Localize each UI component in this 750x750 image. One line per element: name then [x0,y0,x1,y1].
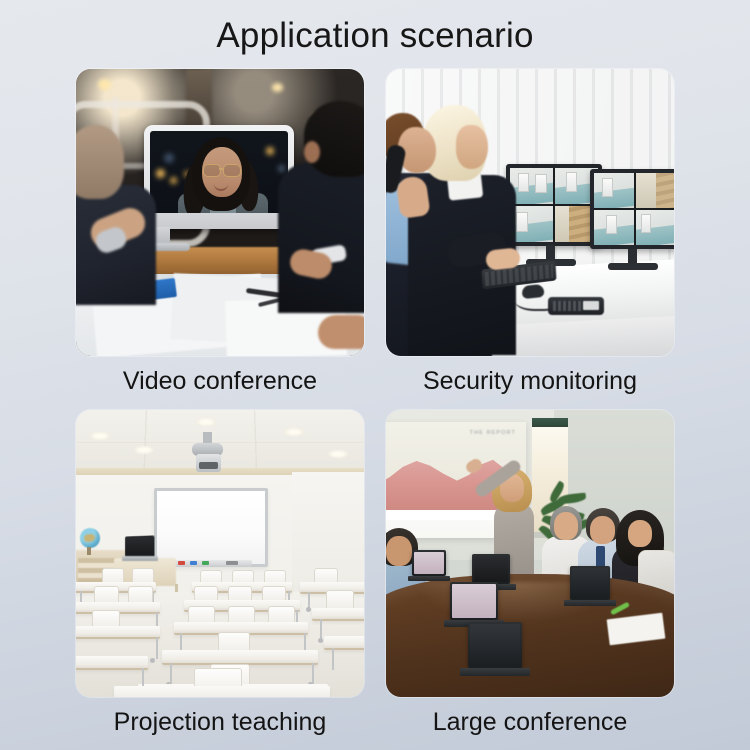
cctv-monitor-2 [590,169,674,249]
cctv-quad-view [510,168,598,242]
operator-woman-face [456,125,488,169]
participant-right-hand [318,315,364,349]
eyeglasses-icon [203,164,221,177]
cctv-quad-view [594,173,674,245]
eraser-icon [226,561,238,565]
caption-security-monitoring: Security monitoring [423,364,637,398]
projector-lens [199,462,218,469]
downlight-icon [328,450,348,458]
slide-title: THE REPORT [470,430,516,436]
page-title: Application scenario [0,14,750,58]
downlight-icon [134,446,154,454]
attendee-face [386,536,412,566]
interactive-whiteboard [154,488,268,567]
conference-phone [548,297,604,315]
marker-icon [178,561,185,565]
monitor-stand-base [608,263,658,270]
ceiling-lamp-icon [98,79,111,90]
participant-right-ear [304,141,320,163]
participant-left [76,125,172,295]
security-monitoring-photo [386,69,674,356]
scenario-grid: Video conference [76,69,674,734]
caption-video-conference: Video conference [123,364,317,398]
participant-right-hair [304,101,364,177]
camera-feed [636,210,674,245]
participant-left-hair [76,125,124,199]
window-header [532,418,568,427]
participant-right [266,101,364,301]
camera-feed [594,210,634,245]
attendee-face [628,520,652,547]
camera-feed [510,206,553,242]
caption-projection-teaching: Projection teaching [114,705,327,739]
classroom-desk [114,686,330,697]
camera-feed [636,173,674,208]
projection-teaching-photo [76,410,364,697]
camera-feed [594,173,634,208]
laptop-base [122,556,158,561]
marker-icon [190,561,197,565]
large-conference-photo: THE REPORT [386,410,674,697]
marker-icon [202,561,209,565]
video-conference-photo [76,69,364,356]
camera-feed [510,168,553,204]
caption-large-conference: Large conference [433,705,628,739]
scenario-image-projection-teaching[interactable] [76,410,364,697]
ceiling-lamp-icon [272,83,283,92]
downlight-icon [196,418,216,426]
downlight-icon [284,428,304,436]
application-scenario-page: Application scenario [0,0,750,750]
scenario-cell-security-monitoring: Security monitoring [386,69,674,398]
classroom-desk-legs [332,648,364,670]
eyeglasses-bridge [219,168,224,170]
scenario-image-security-monitoring[interactable] [386,69,674,356]
cctv-monitor-1 [506,164,602,246]
scenario-image-video-conference[interactable] [76,69,364,356]
globe-stand [87,547,91,555]
scenario-cell-video-conference: Video conference [76,69,364,398]
scenario-cell-projection-teaching: Projection teaching [76,410,364,739]
scenario-image-large-conference[interactable]: THE REPORT [386,410,674,697]
participant-right-body [278,163,364,313]
scenario-cell-large-conference: THE REPORT [386,410,674,739]
downlight-icon [90,432,110,440]
eyeglasses-icon [223,164,241,177]
